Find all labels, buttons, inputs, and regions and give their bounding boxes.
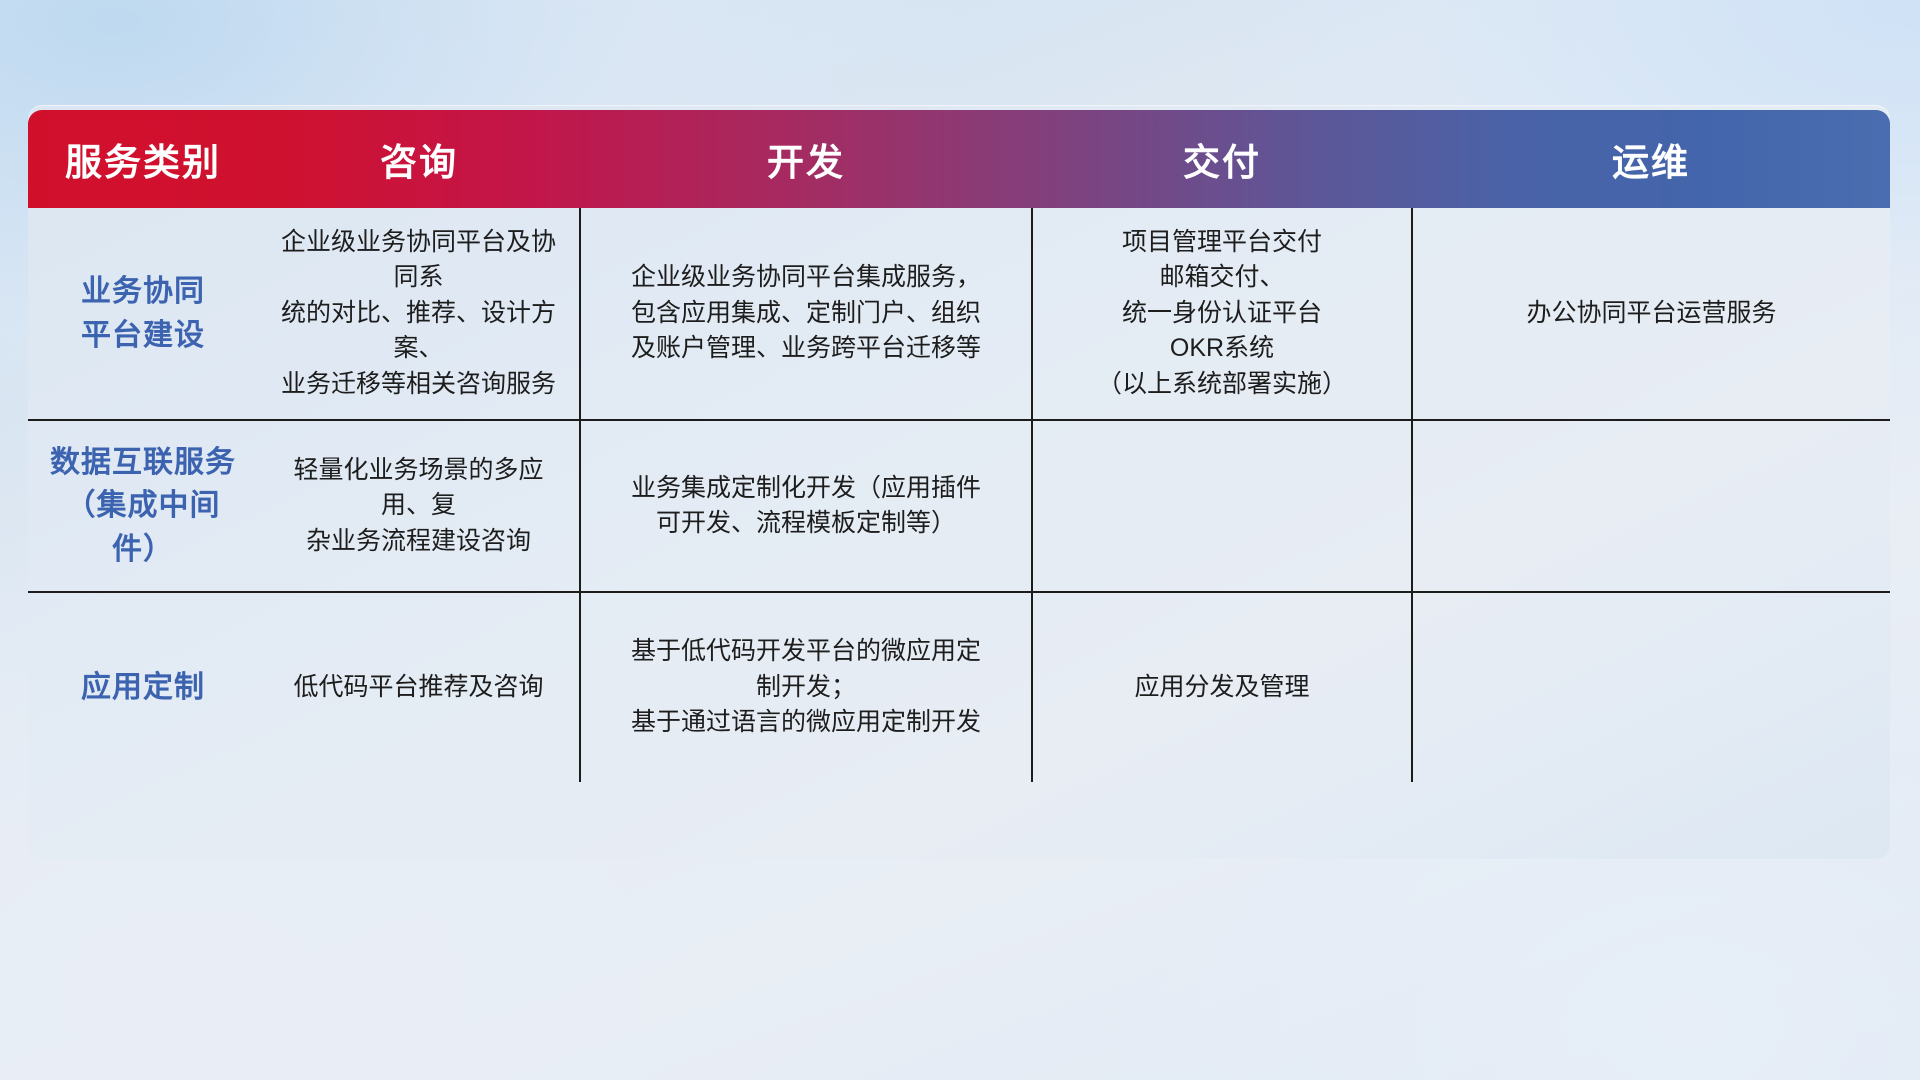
cell-consulting-row1: 企业级业务协同平台及协同系 统的对比、推荐、设计方案、 业务迁移等相关咨询服务: [258, 208, 580, 420]
cell-text: 业务集成定制化开发（应用插件 可开发、流程模板定制等）: [597, 471, 1015, 542]
cell-consulting-row3: 低代码平台推荐及咨询: [258, 592, 580, 782]
table-row: 应用定制 低代码平台推荐及咨询 基于低代码开发平台的微应用定 制开发； 基于通过…: [28, 592, 1890, 782]
column-header-development-label: 开发: [767, 142, 845, 183]
cell-text: 应用定制: [44, 666, 242, 710]
cell-consulting-row2: 轻量化业务场景的多应用、复 杂业务流程建设咨询: [258, 420, 580, 592]
cell-category-row2: 数据互联服务 （集成中间件）: [28, 420, 258, 592]
column-header-category: 服务类别: [28, 110, 258, 208]
cell-text: 企业级业务协同平台集成服务， 包含应用集成、定制门户、组织 及账户管理、业务跨平…: [597, 260, 1015, 367]
cell-text: 低代码平台推荐及咨询: [274, 670, 563, 706]
column-header-development: 开发: [580, 110, 1032, 208]
cell-text: 基于低代码开发平台的微应用定 制开发； 基于通过语言的微应用定制开发: [597, 634, 1015, 741]
cell-development-row3: 基于低代码开发平台的微应用定 制开发； 基于通过语言的微应用定制开发: [580, 592, 1032, 782]
cell-category-row1: 业务协同 平台建设: [28, 208, 258, 420]
column-header-consulting: 咨询: [258, 110, 580, 208]
cell-text: 业务协同 平台建设: [44, 270, 242, 357]
cell-development-row2: 业务集成定制化开发（应用插件 可开发、流程模板定制等）: [580, 420, 1032, 592]
cell-text: 项目管理平台交付 邮箱交付、 统一身份认证平台 OKR系统 （以上系统部署实施）: [1049, 225, 1395, 403]
column-header-operations: 运维: [1412, 110, 1890, 208]
cell-text: 数据互联服务 （集成中间件）: [44, 441, 242, 572]
column-header-delivery-label: 交付: [1183, 142, 1261, 183]
cell-text: 应用分发及管理: [1049, 670, 1395, 706]
cell-development-row1: 企业级业务协同平台集成服务， 包含应用集成、定制门户、组织 及账户管理、业务跨平…: [580, 208, 1032, 420]
cell-operations-row3: [1412, 592, 1890, 782]
cell-text: 企业级业务协同平台及协同系 统的对比、推荐、设计方案、 业务迁移等相关咨询服务: [274, 225, 563, 403]
cell-text: 办公协同平台运营服务: [1429, 296, 1874, 332]
table-body: 业务协同 平台建设 企业级业务协同平台及协同系 统的对比、推荐、设计方案、 业务…: [28, 208, 1890, 782]
cell-operations-row2: [1412, 420, 1890, 592]
cell-text: 轻量化业务场景的多应用、复 杂业务流程建设咨询: [274, 453, 563, 560]
cell-operations-row1: 办公协同平台运营服务: [1412, 208, 1890, 420]
column-header-category-label: 服务类别: [65, 142, 221, 183]
cell-delivery-row2: [1032, 420, 1412, 592]
table-row: 数据互联服务 （集成中间件） 轻量化业务场景的多应用、复 杂业务流程建设咨询 业…: [28, 420, 1890, 592]
column-header-delivery: 交付: [1032, 110, 1412, 208]
column-header-consulting-label: 咨询: [380, 142, 458, 183]
column-header-operations-label: 运维: [1612, 142, 1690, 183]
header-row: 服务类别 咨询 开发 交付 运维: [28, 110, 1890, 208]
table-header: 服务类别 咨询 开发 交付 运维: [28, 110, 1890, 208]
cell-category-row3: 应用定制: [28, 592, 258, 782]
service-matrix-table: 服务类别 咨询 开发 交付 运维 业务协同 平台建设 企业级业务协同平台及协同系…: [28, 110, 1890, 782]
table-row: 业务协同 平台建设 企业级业务协同平台及协同系 统的对比、推荐、设计方案、 业务…: [28, 208, 1890, 420]
cell-delivery-row1: 项目管理平台交付 邮箱交付、 统一身份认证平台 OKR系统 （以上系统部署实施）: [1032, 208, 1412, 420]
cell-delivery-row3: 应用分发及管理: [1032, 592, 1412, 782]
